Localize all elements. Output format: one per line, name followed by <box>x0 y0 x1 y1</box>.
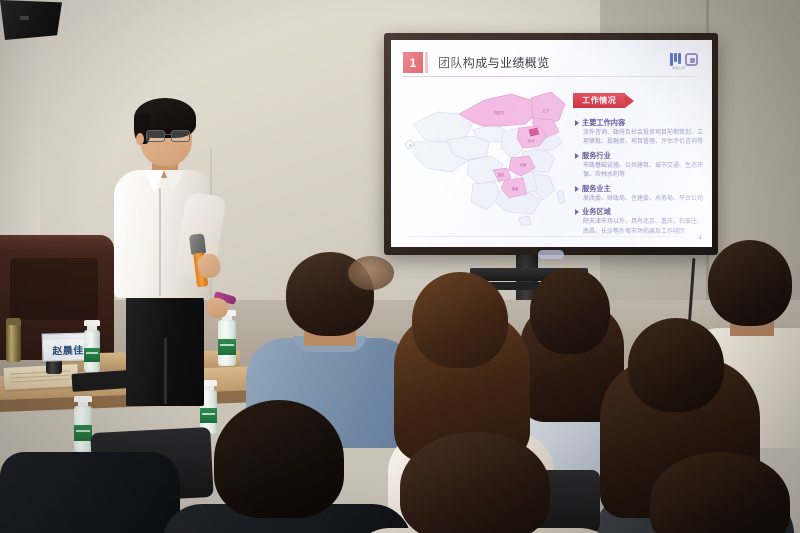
audience-head <box>412 272 508 368</box>
bullet-detail: 发改委、财政局、住建委、水务局、平台公司 <box>575 195 707 204</box>
bullet-heading: 服务行业 <box>575 151 707 161</box>
audience-head <box>214 400 344 518</box>
microphone-head <box>189 233 206 255</box>
bullet-detail: 除天津市场以外，具有北京、重庆、石家庄、南昌、长沙等外埠市场拓展及工作经历 <box>575 218 707 237</box>
presenter-ear <box>136 133 144 145</box>
slide-bottom-rule <box>409 236 684 237</box>
slide-number-accent <box>425 52 428 73</box>
triangle-bullet-icon <box>575 153 579 159</box>
water-bottle <box>84 320 100 372</box>
ribbon-label: 工作情况 <box>573 93 625 108</box>
conference-room-scene: 1 团队构成与业绩概览 中咨公司 <box>0 0 800 533</box>
presentation-slide: 1 团队构成与业绩概览 中咨公司 <box>391 40 712 247</box>
bottle-label <box>200 408 217 423</box>
audience-head <box>530 268 610 354</box>
svg-text:湖南: 湖南 <box>512 186 519 191</box>
bottle-body <box>74 406 92 452</box>
notebook <box>3 364 78 390</box>
logo-bars <box>670 53 681 66</box>
eyeglasses-icon <box>146 130 194 142</box>
audience-scalp <box>348 256 394 290</box>
slide-title-rule <box>403 76 695 77</box>
thermos-lid <box>6 318 21 325</box>
bullet-heading: 主要工作内容 <box>575 118 707 128</box>
bullet-heading-text: 服务行业 <box>582 151 611 161</box>
triangle-bullet-icon <box>575 186 579 192</box>
water-bottle <box>74 396 92 452</box>
audience-head <box>286 252 374 336</box>
podium-top <box>0 235 114 251</box>
tv-brand-indicator <box>538 250 564 259</box>
podium-shelf <box>10 258 98 320</box>
bullet-heading-text: 主要工作内容 <box>582 118 625 128</box>
triangle-bullet-icon <box>575 209 579 215</box>
svg-text:北京: 北京 <box>530 130 537 135</box>
bullet-heading-text: 业务区域 <box>582 207 611 217</box>
presenter-shirt-placket <box>159 188 161 296</box>
bottle-body <box>84 330 100 372</box>
logo-ring <box>685 53 698 66</box>
slide-bullet-list: 主要工作内容 涉外咨询、政府及社会投资项目前期策划、立项审批、投融资、项目管理、… <box>575 114 707 237</box>
bullet-heading-text: 服务业主 <box>582 184 611 194</box>
ceiling-speaker-icon <box>0 0 62 40</box>
bullet-heading: 服务业主 <box>575 184 707 194</box>
audience-head <box>400 432 550 533</box>
bullet-detail: 市政基础设施、公共建筑、城市交通、生态环保、农林水利等 <box>575 162 707 181</box>
television-display[interactable]: 1 团队构成与业绩概览 中咨公司 <box>384 33 718 255</box>
speaker-badge <box>20 16 29 20</box>
thermos <box>6 318 21 362</box>
section-ribbon: 工作情况 <box>573 93 634 108</box>
bottle-label <box>74 425 92 441</box>
presenter <box>104 98 254 398</box>
bullet-detail: 涉外咨询、政府及社会投资项目前期策划、立项审批、投融资、项目管理、评估评价咨询等 <box>575 129 707 148</box>
lens-right <box>171 130 190 142</box>
svg-text:重庆: 重庆 <box>498 172 505 177</box>
bottle-label <box>84 348 100 362</box>
audience-head <box>708 240 792 326</box>
tv-screen: 1 团队构成与业绩概览 中咨公司 <box>391 40 712 247</box>
slide-title: 团队构成与业绩概览 <box>438 54 550 71</box>
svg-text:辽宁: 辽宁 <box>543 108 550 113</box>
audience-head <box>628 318 724 412</box>
audience-torso <box>0 452 180 533</box>
china-map: 内蒙古 辽宁 北京 河北 重庆 河南 湖南 <box>407 80 579 230</box>
ribbon-arrow-icon <box>625 94 634 108</box>
svg-text:内蒙古: 内蒙古 <box>494 110 505 115</box>
slide-title-bar: 1 团队构成与业绩概览 <box>391 52 712 75</box>
map-compass-icon <box>405 140 414 149</box>
logo-text: 中咨公司 <box>672 66 685 70</box>
slide-section-number: 1 <box>403 52 423 73</box>
company-logo-icon: 中咨公司 <box>670 51 700 71</box>
presenter-leg-separation <box>164 338 167 404</box>
slide-page-number: 4 <box>698 235 702 242</box>
svg-text:河南: 河南 <box>520 162 527 167</box>
svg-text:河北: 河北 <box>528 138 535 143</box>
lens-left <box>146 130 165 142</box>
bullet-heading: 业务区域 <box>575 207 707 217</box>
triangle-bullet-icon <box>575 120 579 126</box>
